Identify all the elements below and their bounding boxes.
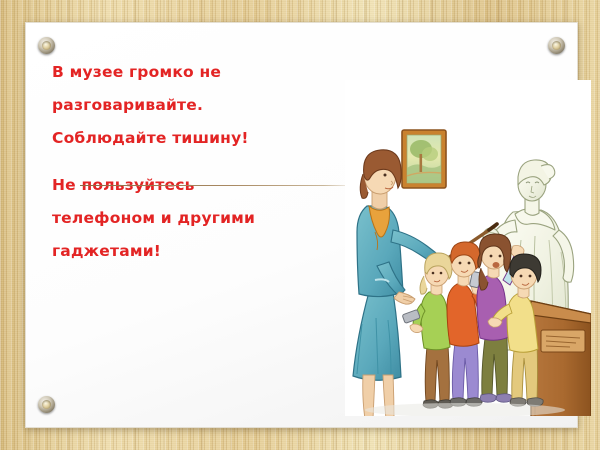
screw-icon-top-right [548, 37, 565, 54]
text-line-2: разговаривайте. [52, 89, 322, 122]
white-card-panel: В музее громко не разговаривайте. Соблюд… [25, 22, 578, 428]
text-line-3: Соблюдайте тишину! [52, 122, 322, 155]
museum-scene-svg [345, 80, 591, 416]
rule-paragraph-quiet: В музее громко не разговаривайте. Соблюд… [52, 56, 322, 155]
text-line-1: В музее громко не [52, 56, 322, 89]
text-line-6: гаджетами! [52, 235, 322, 268]
screw-icon-bottom-left [38, 396, 55, 413]
screw-icon-top-left [38, 37, 55, 54]
rules-text-block: В музее громко не разговаривайте. Соблюд… [52, 56, 322, 268]
framed-painting [402, 130, 446, 188]
rule-paragraph-phones: Не пользуйтесь телефоном и другими гадже… [52, 169, 322, 268]
text-line-5: телефоном и другими [52, 202, 322, 235]
horizontal-rule [80, 185, 357, 186]
slide-stage: В музее громко не разговаривайте. Соблюд… [0, 0, 600, 450]
museum-illustration [345, 80, 591, 416]
